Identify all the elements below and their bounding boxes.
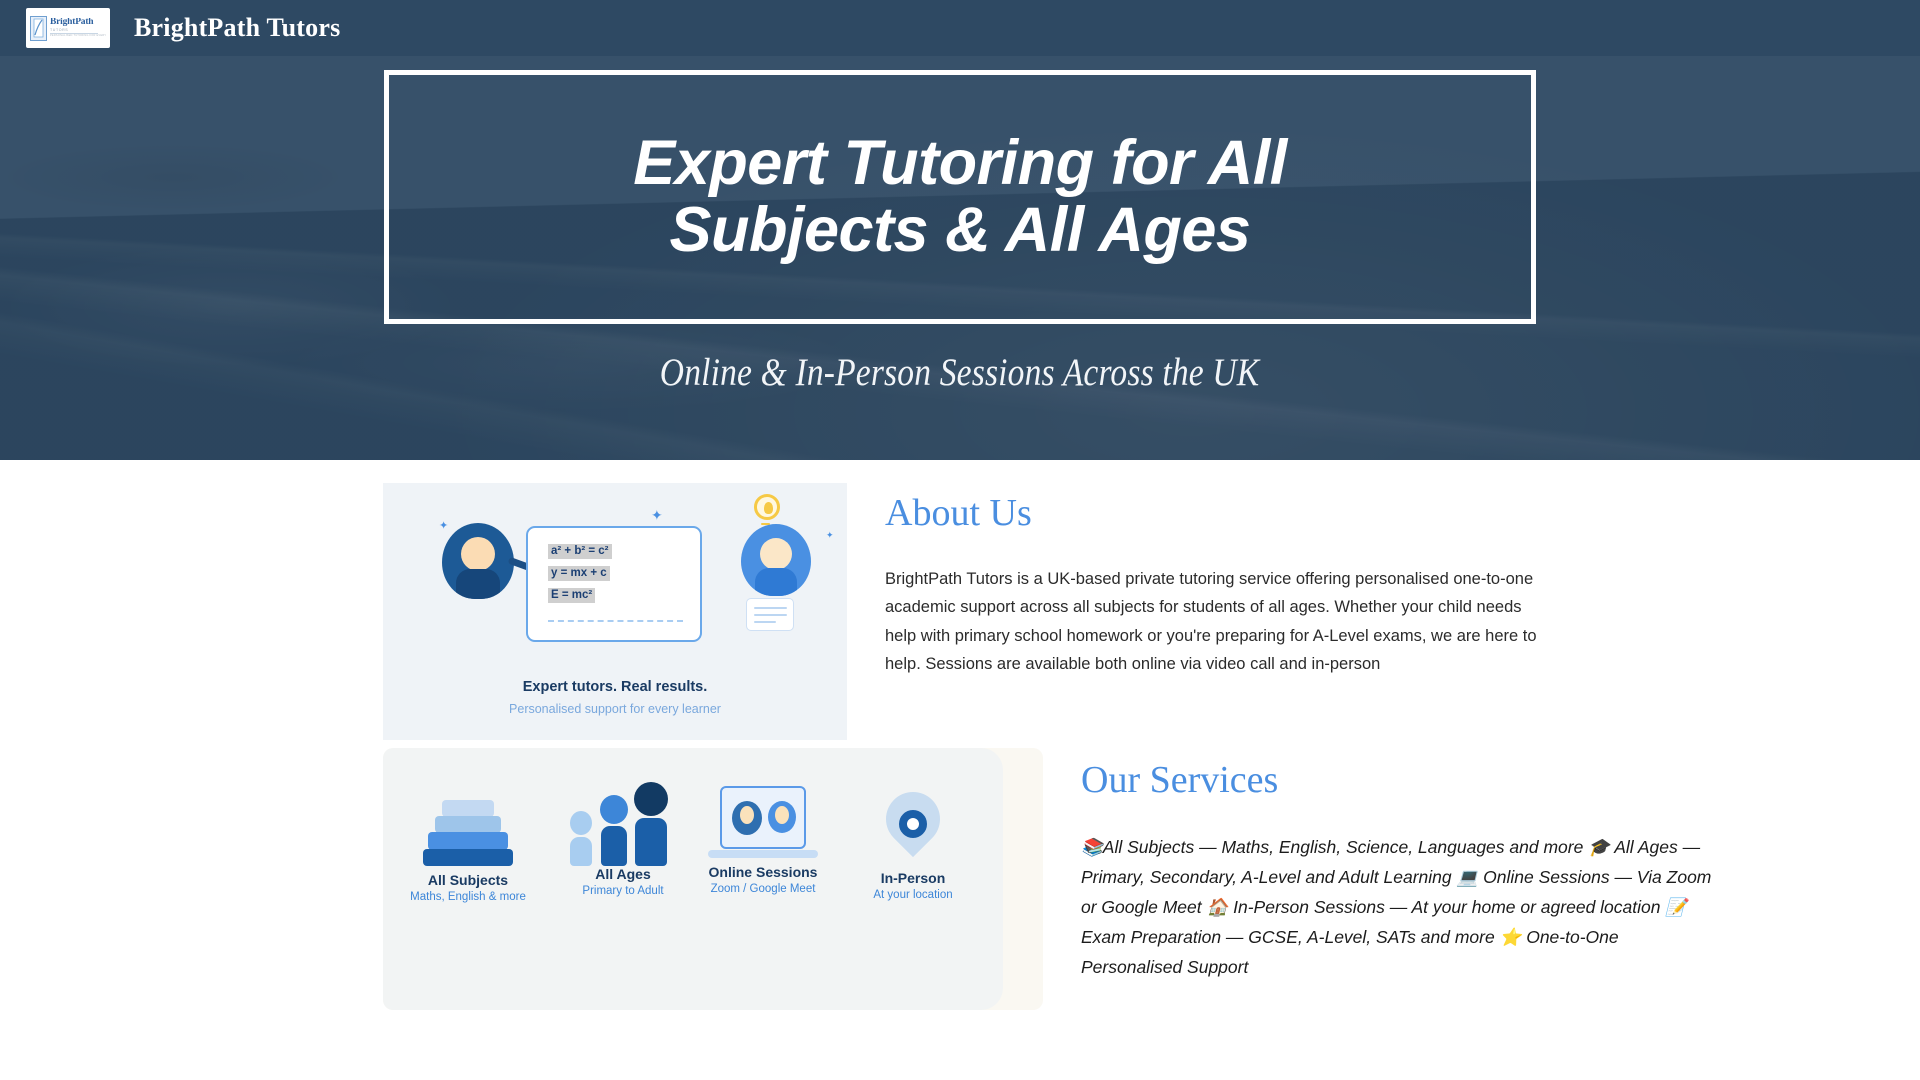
services-illustration: ••• All Subjects Maths, English & more <box>383 748 1043 1010</box>
brand-logo[interactable]: BrightPath TUTORS PERSONALISED TUTORING … <box>26 8 110 48</box>
service-label: All Ages <box>548 866 698 882</box>
about-body: BrightPath Tutors is a UK-based private … <box>885 565 1545 679</box>
service-label: In-Person <box>838 870 988 886</box>
map-pin-icon <box>838 790 988 870</box>
hero-subheadline: Online & In-Person Sessions Across the U… <box>660 350 1260 395</box>
service-item-all-subjects: All Subjects Maths, English & more <box>393 800 543 903</box>
book-stack-icon <box>393 800 543 872</box>
equation-3: E = mc² <box>548 588 595 603</box>
services-heading: Our Services <box>1081 760 1721 802</box>
hero-banner: Expert Tutoring for All Subjects & All A… <box>0 56 1920 460</box>
equation-2: y = mx + c <box>548 566 610 581</box>
about-heading: About Us <box>885 493 1545 535</box>
lightbulb-icon <box>754 494 780 520</box>
about-media-col: ✦ ✦ ✦ a² + b² = c² y = mx + c E = mc² <box>0 483 847 740</box>
hero-title-frame: Expert Tutoring for All Subjects & All A… <box>384 70 1536 324</box>
tutor-avatar <box>442 523 514 599</box>
sparkle-icon: ✦ <box>826 531 834 540</box>
service-item-in-person: In-Person At your location <box>838 790 988 901</box>
people-group-icon <box>548 786 698 866</box>
board-dashed-line <box>548 620 683 622</box>
about-text-col: About Us BrightPath Tutors is a UK-based… <box>885 483 1545 678</box>
illustration-caption: Expert tutors. Real results. <box>383 679 847 695</box>
service-item-online-sessions: Online Sessions Zoom / Google Meet <box>688 786 838 895</box>
laptop-video-icon <box>688 786 838 864</box>
site-title: BrightPath Tutors <box>134 13 340 43</box>
service-sub: Zoom / Google Meet <box>688 883 838 895</box>
hero-headline: Expert Tutoring for All Subjects & All A… <box>565 130 1355 264</box>
service-sub: At your location <box>838 889 988 901</box>
site-header: BrightPath TUTORS PERSONALISED TUTORING … <box>0 0 1920 56</box>
services-illustration-panel: All Subjects Maths, English & more <box>383 748 1003 1010</box>
service-item-all-ages: All Ages Primary to Adult <box>548 786 698 897</box>
services-media-col: ••• All Subjects Maths, English & more <box>0 748 1043 1010</box>
service-sub: Primary to Adult <box>548 885 698 897</box>
service-label: All Subjects <box>393 872 543 888</box>
student-avatar <box>741 524 811 596</box>
logo-tagline: PERSONALISED TUTORING FOR EVERY LEARNER <box>50 35 106 38</box>
about-section: ✦ ✦ ✦ a² + b² = c² y = mx + c E = mc² <box>0 460 1920 740</box>
logo-subword: TUTORS <box>50 29 106 33</box>
equation-1: a² + b² = c² <box>548 544 612 559</box>
book-page-icon <box>30 16 47 41</box>
services-text-col: Our Services 📚All Subjects — Maths, Engl… <box>1081 748 1721 982</box>
about-illustration: ✦ ✦ ✦ a² + b² = c² y = mx + c E = mc² <box>383 483 847 740</box>
notes-document-icon <box>746 598 794 631</box>
illustration-subcaption: Personalised support for every learner <box>383 702 847 716</box>
services-body: 📚All Subjects — Maths, English, Science,… <box>1081 832 1721 982</box>
sparkle-icon: ✦ <box>651 508 663 522</box>
services-section: ••• All Subjects Maths, English & more <box>0 740 1920 1010</box>
whiteboard: a² + b² = c² y = mx + c E = mc² <box>526 526 702 642</box>
logo-wordmark: BrightPath <box>50 18 106 28</box>
service-sub: Maths, English & more <box>393 891 543 903</box>
sparkle-icon: ✦ <box>439 521 448 532</box>
service-label: Online Sessions <box>688 864 838 880</box>
